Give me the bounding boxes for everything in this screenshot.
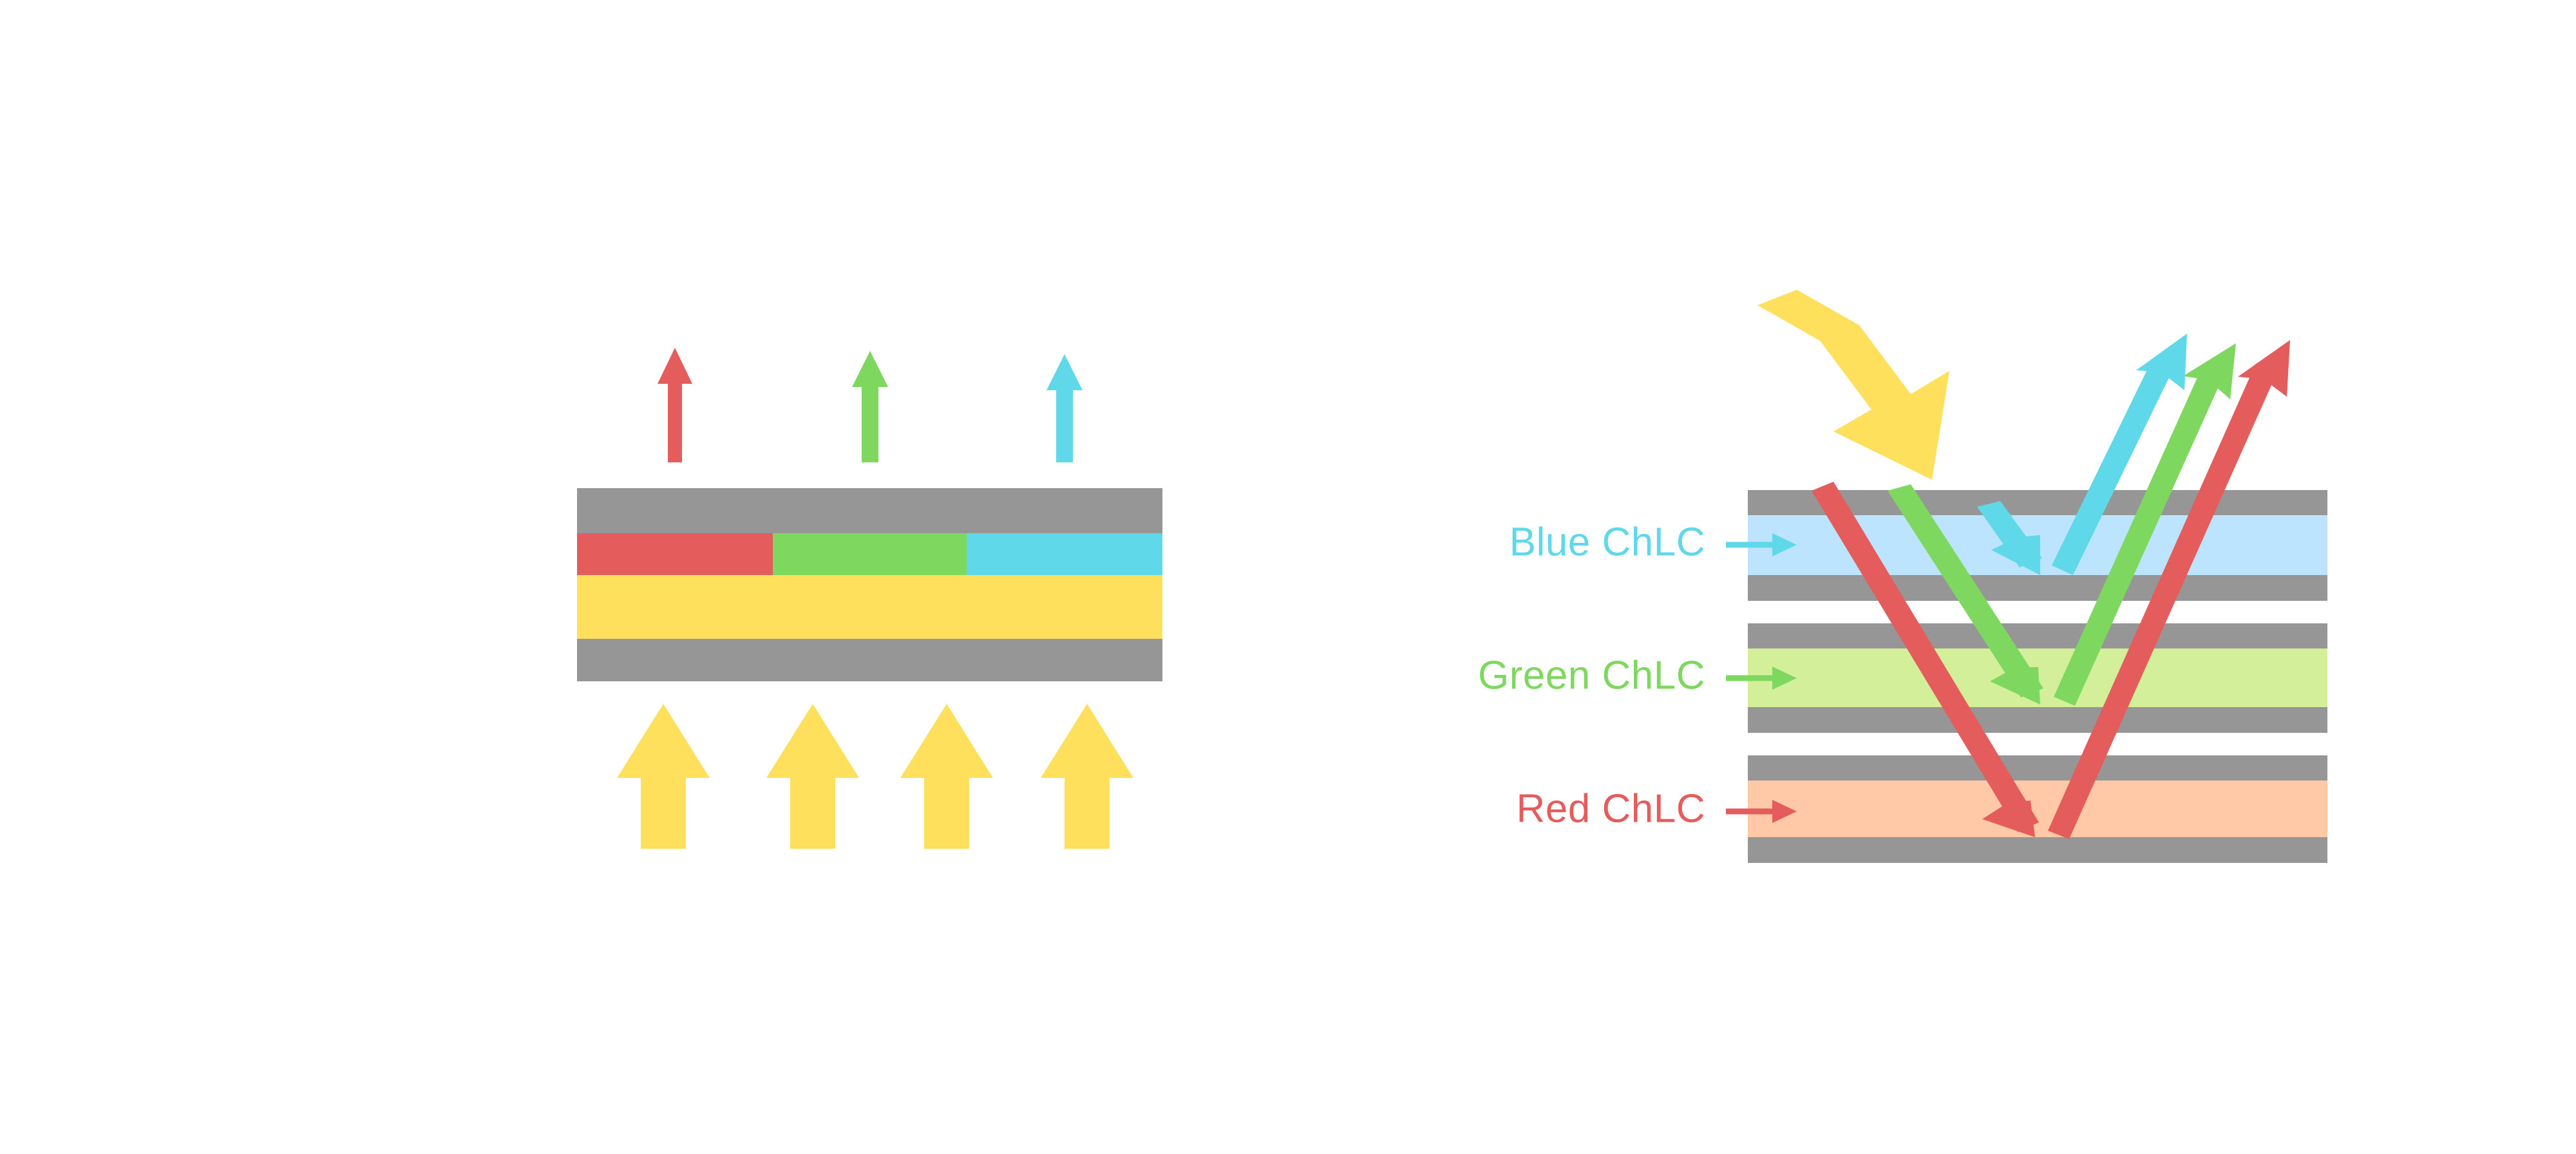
red-chlc-label-text: Red ChLC <box>1517 786 1705 831</box>
blue-chlc-label-text: Blue ChLC <box>1510 520 1705 564</box>
backlight-diffuser-layer <box>577 575 1162 639</box>
top-substrate-layer <box>577 488 1162 533</box>
red-subpixel-filter <box>577 533 773 575</box>
green-chlc-label-text: Green ChLC <box>1478 653 1705 697</box>
red-top-electrode <box>1748 755 2327 780</box>
diagram-canvas: Blue ChLC Green ChLC Red ChLC <box>0 0 2576 1154</box>
blue-bottom-electrode <box>1748 575 2327 601</box>
green-subpixel-filter <box>773 533 967 575</box>
green-bottom-electrode <box>1748 707 2327 733</box>
bottom-substrate-layer <box>577 639 1162 681</box>
red-chlc-layer <box>1748 780 2327 837</box>
red-bottom-electrode <box>1748 837 2327 863</box>
green-top-electrode <box>1748 623 2327 648</box>
blue-subpixel-filter <box>967 533 1162 575</box>
left-layer-stack <box>577 488 1162 681</box>
